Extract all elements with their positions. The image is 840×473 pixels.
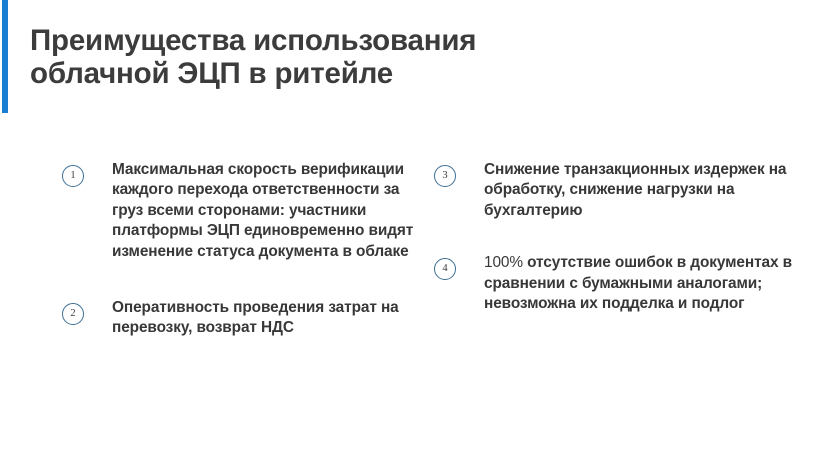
column-right: 3 Снижение транзакционных издержек на об… bbox=[434, 160, 824, 338]
list-item: 3 Снижение транзакционных издержек на об… bbox=[434, 160, 824, 221]
page-title-line-1: Преимущества использования bbox=[30, 24, 630, 57]
page-title-line-2: облачной ЭЦП в ритейле bbox=[30, 57, 630, 90]
accent-bar bbox=[2, 0, 8, 113]
list-item: 2 Оперативность проведения затрат на пер… bbox=[62, 298, 417, 339]
list-item-lead: 100% bbox=[484, 254, 527, 271]
item-number-badge: 3 bbox=[434, 165, 456, 187]
item-number-badge: 4 bbox=[434, 258, 456, 280]
list-item-text: Оперативность проведения затрат на перев… bbox=[112, 298, 417, 339]
list-item: 1 Максимальная скорость верификации кажд… bbox=[62, 160, 417, 262]
list-item-text: Снижение транзакционных издержек на обра… bbox=[484, 160, 824, 221]
list-item: 4 100% отсутствие ошибок в документах в … bbox=[434, 253, 824, 314]
list-item-text: 100% отсутствие ошибок в документах в ср… bbox=[484, 253, 824, 314]
column-left: 1 Максимальная скорость верификации кажд… bbox=[62, 160, 417, 363]
list-item-body: Оперативность проведения затрат на перев… bbox=[112, 299, 399, 336]
item-number-badge: 2 bbox=[62, 303, 84, 325]
list-item-text: Максимальная скорость верификации каждог… bbox=[112, 160, 417, 262]
page-title: Преимущества использования облачной ЭЦП … bbox=[30, 24, 630, 90]
item-number-badge: 1 bbox=[62, 165, 84, 187]
list-item-body: отсутствие ошибок в документах в сравнен… bbox=[484, 254, 792, 312]
list-item-body: Максимальная скорость верификации каждог… bbox=[112, 161, 413, 260]
list-item-body: Снижение транзакционных издержек на обра… bbox=[484, 161, 786, 219]
slide-canvas: Преимущества использования облачной ЭЦП … bbox=[0, 0, 840, 473]
